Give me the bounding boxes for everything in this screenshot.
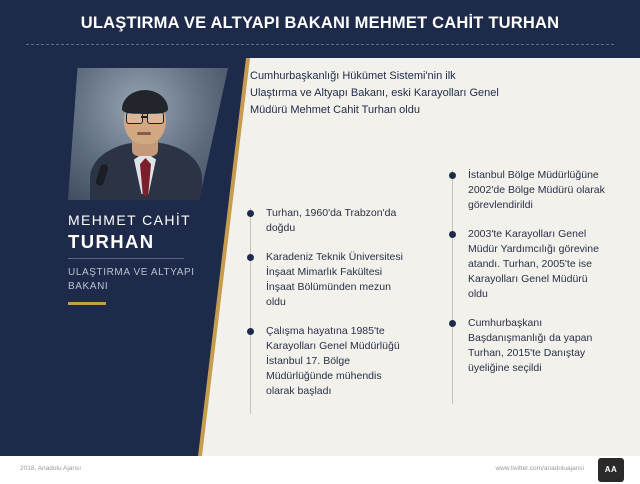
list-item: İstanbul Bölge Müdürlüğüne 2002'de Bölge… (452, 168, 610, 213)
header-divider (26, 44, 614, 46)
bullet-dot-icon (247, 254, 254, 261)
list-item: 2003'te Karayolları Genel Müdür Yardımcı… (452, 227, 610, 302)
list-item-text: Çalışma hayatına 1985'te Karayolları Gen… (266, 325, 400, 397)
list-item: Karadeniz Teknik Üniversitesi İnşaat Mim… (250, 250, 408, 310)
gold-underline (68, 302, 106, 305)
bullet-dot-icon (449, 172, 456, 179)
page-title: ULAŞTIRMA VE ALTYAPI BAKANI MEHMET CAHİT… (0, 14, 640, 33)
list-item-text: Turhan, 1960'da Trabzon'da doğdu (266, 207, 396, 234)
bullet-dot-icon (247, 328, 254, 335)
bullet-dot-icon (449, 231, 456, 238)
list-item: Turhan, 1960'da Trabzon'da doğdu (250, 206, 408, 236)
list-item-text: Cumhurbaşkanı Başdanışmanlığı da yapan T… (468, 317, 592, 374)
footer-bar: 2018, Anadolu Ajansı www.twitter.com/ana… (0, 456, 640, 484)
name-divider (68, 258, 184, 259)
list-item: Cumhurbaşkanı Başdanışmanlığı da yapan T… (452, 316, 610, 376)
agency-logo: AA (598, 458, 624, 482)
portrait-glasses-left (126, 112, 143, 124)
person-role: ULAŞTIRMA VE ALTYAPI BAKANI (68, 266, 198, 294)
header-bar: ULAŞTIRMA VE ALTYAPI BAKANI MEHMET CAHİT… (0, 0, 640, 58)
bullet-dot-icon (247, 210, 254, 217)
bullet-dot-icon (449, 320, 456, 327)
portrait-glasses-bridge (141, 116, 147, 118)
avatar (68, 68, 228, 200)
portrait-mouth (137, 132, 151, 135)
infographic-root: ULAŞTIRMA VE ALTYAPI BAKANI MEHMET CAHİT… (0, 0, 640, 484)
portrait-glasses-right (147, 112, 164, 124)
copyright-text: 2018, Anadolu Ajansı (20, 465, 81, 472)
intro-text: Cumhurbaşkanlığı Hükümet Sistemi'nin ilk… (250, 68, 500, 119)
social-link[interactable]: www.twitter.com/anadoluajansi (495, 465, 584, 472)
list-item-text: 2003'te Karayolları Genel Müdür Yardımcı… (468, 228, 599, 300)
person-name-last: TURHAN (68, 231, 155, 253)
portrait-photo (68, 68, 228, 200)
bullet-column-left: Turhan, 1960'da Trabzon'da doğdu Karaden… (250, 206, 408, 413)
list-item-text: Karadeniz Teknik Üniversitesi İnşaat Mim… (266, 251, 403, 308)
list-item-text: İstanbul Bölge Müdürlüğüne 2002'de Bölge… (468, 169, 605, 211)
person-name-first: MEHMET CAHİT (68, 212, 191, 228)
list-item: Çalışma hayatına 1985'te Karayolları Gen… (250, 324, 408, 399)
bullet-column-right: İstanbul Bölge Müdürlüğüne 2002'de Bölge… (452, 168, 610, 390)
